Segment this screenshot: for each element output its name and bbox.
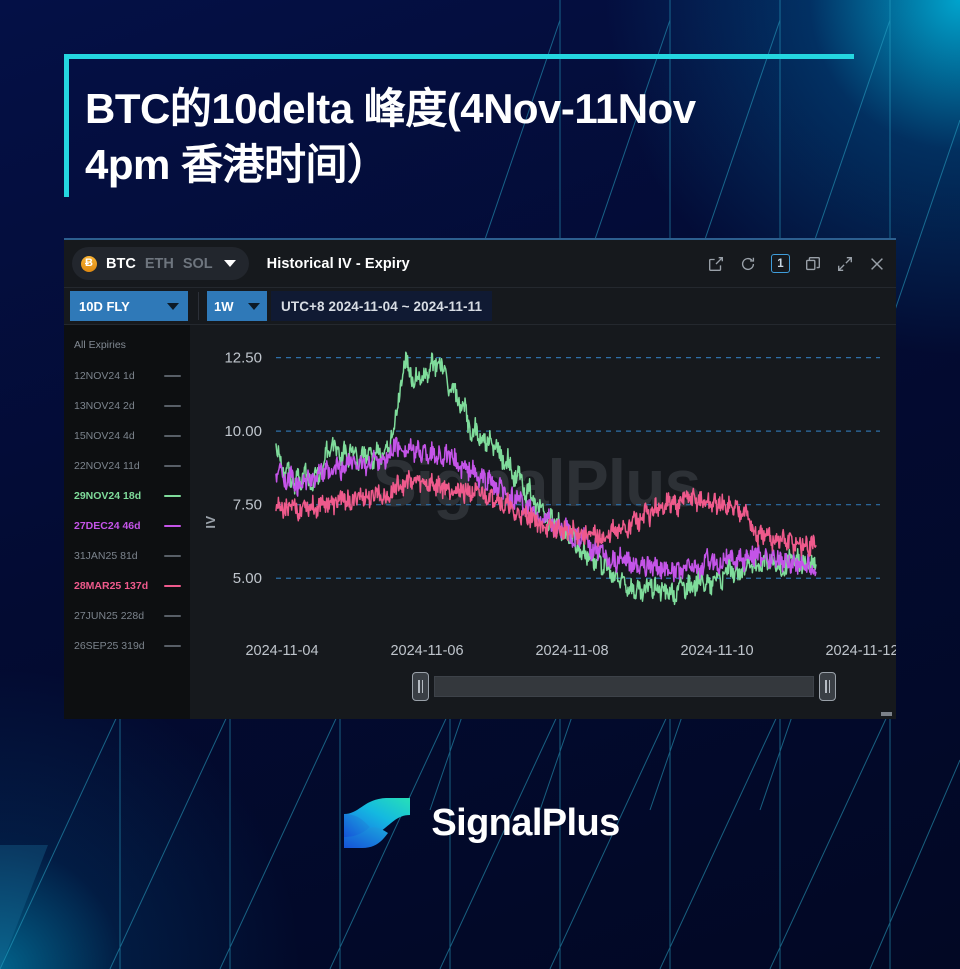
range-slider-track[interactable] xyxy=(434,676,814,697)
metric-select[interactable]: 10D FLY xyxy=(70,291,188,321)
poster-canvas: BTC的10delta 峰度(4Nov-11Nov 4pm 香港时间） Ƀ BT… xyxy=(0,0,960,969)
expiry-row[interactable]: 31JAN25 81d xyxy=(64,541,190,571)
metric-select-value: 10D FLY xyxy=(79,299,130,314)
expiry-row[interactable]: 29NOV24 18d xyxy=(64,481,190,511)
expiry-color-swatch xyxy=(164,585,181,588)
title-bracket: BTC的10delta 峰度(4Nov-11Nov 4pm 香港时间） xyxy=(64,54,854,197)
expiry-label: 12NOV24 1d xyxy=(74,370,135,382)
expiry-label: 27DEC24 46d xyxy=(74,520,141,532)
y-axis-tick-label: 5.00 xyxy=(233,570,262,587)
expiry-label: 31JAN25 81d xyxy=(74,550,138,562)
asset-selector[interactable]: Ƀ BTC ETH SOL xyxy=(72,247,249,280)
duplicate-icon[interactable] xyxy=(804,255,822,273)
expiry-color-swatch xyxy=(164,495,181,498)
y-axis-tick-label: 10.00 xyxy=(224,423,262,440)
expiry-color-swatch xyxy=(164,645,181,648)
page-title: BTC的10delta 峰度(4Nov-11Nov 4pm 香港时间） xyxy=(85,81,854,193)
asset-option-eth[interactable]: ETH xyxy=(145,256,174,272)
x-axis-tick-label: 2024-11-12 xyxy=(825,643,896,659)
expiry-row[interactable]: 12NOV24 1d xyxy=(64,361,190,391)
expiry-row[interactable]: 15NOV24 4d xyxy=(64,421,190,451)
expiry-legend-list: All Expiries 12NOV24 1d13NOV24 2d15NOV24… xyxy=(64,325,190,719)
chevron-down-icon[interactable] xyxy=(224,260,236,267)
panel-header-actions: 1 xyxy=(707,254,886,273)
panel-body: All Expiries 12NOV24 1d13NOV24 2d15NOV24… xyxy=(64,325,896,719)
x-axis-tick-label: 2024-11-10 xyxy=(680,643,753,659)
panel-controls: 10D FLY 1W UTC+8 2024-11-04 ~ 2024-11-11 xyxy=(64,287,896,325)
expiry-color-swatch xyxy=(164,435,181,438)
asset-option-btc[interactable]: BTC xyxy=(106,256,136,272)
x-axis-tick-label: 2024-11-04 xyxy=(245,643,318,659)
range-slider-right-handle[interactable] xyxy=(819,672,836,701)
expiry-label: 13NOV24 2d xyxy=(74,400,135,412)
expiry-color-swatch xyxy=(164,375,181,378)
y-axis-tick-label: 12.50 xyxy=(224,350,262,367)
chevron-down-icon xyxy=(167,303,179,310)
expiry-color-swatch xyxy=(164,555,181,558)
line-chart: 12.5010.007.505.002024-11-042024-11-0620… xyxy=(190,325,896,719)
expiry-label: 28MAR25 137d xyxy=(74,580,148,592)
panel-resize-handle[interactable] xyxy=(881,712,892,716)
expiry-row[interactable]: 13NOV24 2d xyxy=(64,391,190,421)
expiry-label: 26SEP25 319d xyxy=(74,640,145,652)
signalplus-logo-icon xyxy=(340,795,414,851)
asset-option-sol[interactable]: SOL xyxy=(183,256,213,272)
chevron-down-icon xyxy=(248,303,260,310)
footer-brand: SignalPlus xyxy=(0,795,960,851)
timeframe-select[interactable]: 1W xyxy=(207,291,267,321)
expiry-color-swatch xyxy=(164,405,181,408)
range-slider[interactable] xyxy=(412,671,836,701)
panel-header: Ƀ BTC ETH SOL Historical IV - Expiry 1 xyxy=(64,240,896,287)
expiry-label: 27JUN25 228d xyxy=(74,610,144,622)
y-axis-tick-label: 7.50 xyxy=(233,497,262,514)
timeframe-select-value: 1W xyxy=(214,299,234,314)
expiry-color-swatch xyxy=(164,615,181,618)
close-icon[interactable] xyxy=(868,255,886,273)
control-divider xyxy=(198,292,199,320)
x-axis-tick-label: 2024-11-06 xyxy=(390,643,463,659)
expiry-row[interactable]: 26SEP25 319d xyxy=(64,631,190,661)
refresh-icon[interactable] xyxy=(739,255,757,273)
expiry-row[interactable]: 27JUN25 228d xyxy=(64,601,190,631)
expiry-label: 15NOV24 4d xyxy=(74,430,135,442)
expand-icon[interactable] xyxy=(836,255,854,273)
external-link-icon[interactable] xyxy=(707,255,725,273)
chart-count-badge[interactable]: 1 xyxy=(771,254,790,273)
panel-title: Historical IV - Expiry xyxy=(267,256,410,272)
expiry-row[interactable]: 27DEC24 46d xyxy=(64,511,190,541)
range-slider-left-handle[interactable] xyxy=(412,672,429,701)
bitcoin-icon: Ƀ xyxy=(81,256,97,272)
expiry-color-swatch xyxy=(164,525,181,528)
expiry-color-swatch xyxy=(164,465,181,468)
expiry-label: 29NOV24 18d xyxy=(74,490,141,502)
all-expiries-heading: All Expiries xyxy=(64,339,190,361)
date-range-label[interactable]: UTC+8 2024-11-04 ~ 2024-11-11 xyxy=(271,291,492,321)
x-axis-tick-label: 2024-11-08 xyxy=(535,643,608,659)
expiry-label: 22NOV24 11d xyxy=(74,460,140,472)
brand-name: SignalPlus xyxy=(431,802,619,845)
plot-area[interactable]: IV SignalPlus 12.5010.007.505.002024-11-… xyxy=(190,325,896,719)
expiry-row[interactable]: 22NOV24 11d xyxy=(64,451,190,481)
chart-panel: Ƀ BTC ETH SOL Historical IV - Expiry 1 xyxy=(64,238,896,719)
expiry-row[interactable]: 28MAR25 137d xyxy=(64,571,190,601)
